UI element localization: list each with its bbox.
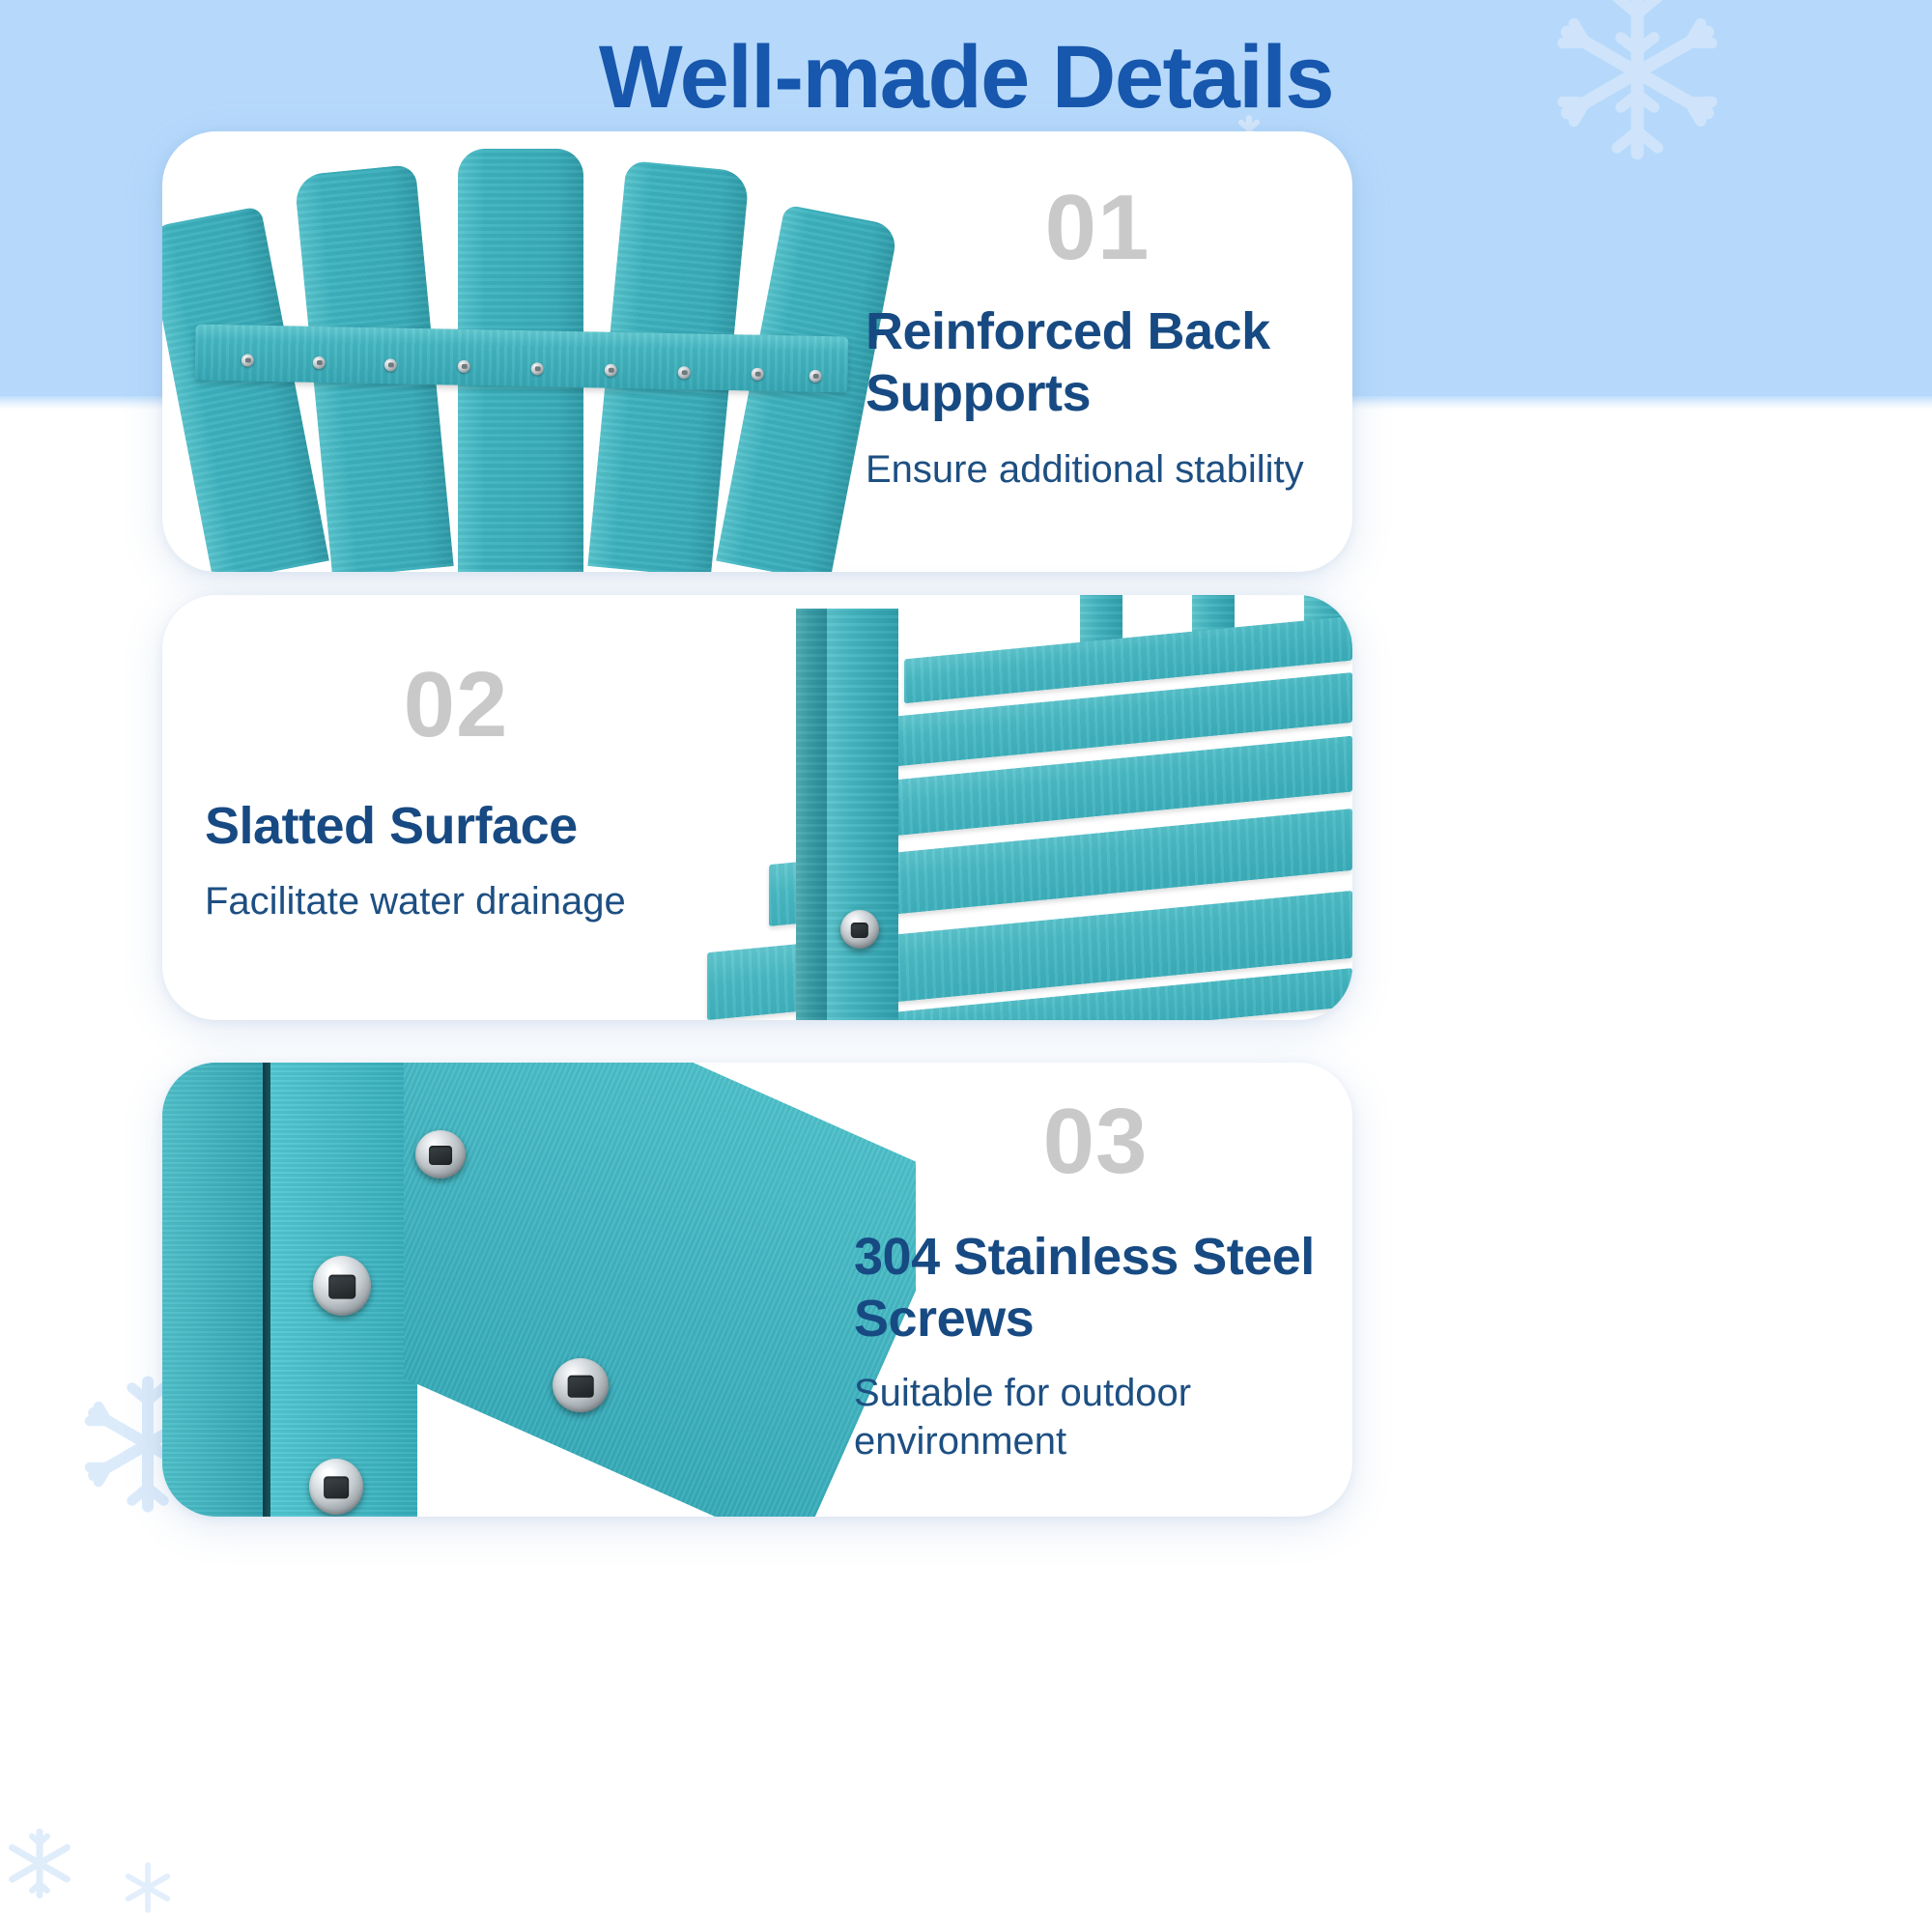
card-03-subtext: Suitable for outdoor environment	[854, 1369, 1337, 1465]
card-01-subtext: Ensure additional stability	[866, 445, 1329, 494]
snowflake-small-bottom-left-a-icon	[2, 1826, 77, 1901]
card-02-heading: Slatted Surface	[205, 796, 707, 858]
card-01-text-block: 01 Reinforced Back Supports Ensure addit…	[866, 182, 1329, 494]
card-03-heading: 304 Stainless Steel Screws	[854, 1227, 1337, 1350]
chair-back-photo	[162, 131, 877, 572]
snowflake-small-bottom-left-b-icon	[120, 1860, 176, 1916]
card-03-text-block: 03 304 Stainless Steel Screws Suitable f…	[854, 1095, 1337, 1465]
card-01-heading: Reinforced Back Supports	[866, 301, 1329, 424]
infographic-page: Well-made Details	[0, 0, 1932, 1932]
detail-card-03: 03 304 Stainless Steel Screws Suitable f…	[162, 1063, 1352, 1517]
card-01-number: 01	[866, 182, 1329, 274]
card-02-text-block: 02 Slatted Surface Facilitate water drai…	[205, 659, 707, 925]
detail-card-01: 01 Reinforced Back Supports Ensure addit…	[162, 131, 1352, 572]
card-03-number: 03	[854, 1095, 1337, 1188]
screws-detail-photo	[162, 1063, 896, 1517]
card-02-subtext: Facilitate water drainage	[205, 877, 707, 925]
page-title: Well-made Details	[0, 27, 1932, 129]
seat-slats-photo	[651, 595, 1352, 1020]
card-02-number: 02	[205, 659, 707, 752]
detail-card-02: 02 Slatted Surface Facilitate water drai…	[162, 595, 1352, 1020]
